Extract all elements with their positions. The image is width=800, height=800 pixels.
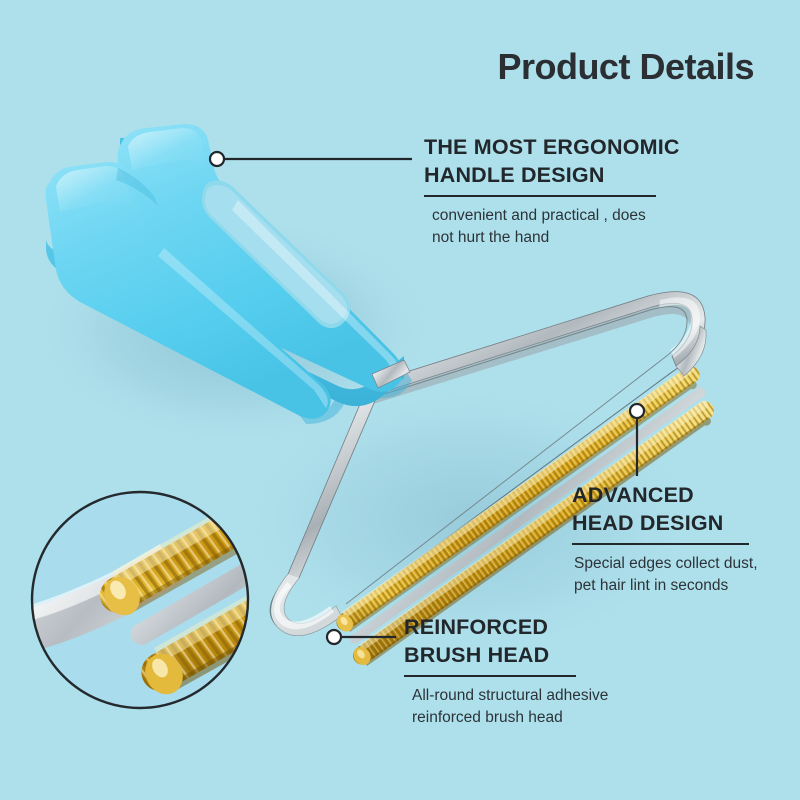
- callout-dot-ergonomic-handle: [210, 152, 224, 166]
- callout-subtext-line1: convenient and practical , does: [432, 205, 680, 227]
- callout-heading-line2: BRUSH HEAD: [404, 642, 608, 670]
- callout-heading: ADVANCED HEAD DESIGN: [572, 482, 758, 538]
- callout-subtext-line2: reinforced brush head: [412, 707, 608, 729]
- callout-underline: [424, 195, 656, 197]
- callout-subtext-line2: not hurt the hand: [432, 227, 680, 249]
- callout-heading: THE MOST ERGONOMIC HANDLE DESIGN: [424, 134, 680, 190]
- page-title: Product Details: [497, 46, 754, 88]
- callout-dot-advanced-head: [630, 404, 644, 418]
- callout-subtext: Special edges collect dust, pet hair lin…: [572, 553, 758, 596]
- callout-subtext-line2: pet hair lint in seconds: [574, 575, 758, 597]
- callout-dot-reinforced-brush: [327, 630, 341, 644]
- callout-heading: REINFORCED BRUSH HEAD: [404, 614, 608, 670]
- callout-heading-line2: HEAD DESIGN: [572, 510, 758, 538]
- callout-ergonomic-handle: THE MOST ERGONOMIC HANDLE DESIGN conveni…: [424, 134, 680, 248]
- product-illustration: [0, 0, 800, 800]
- callout-underline: [404, 675, 576, 677]
- callout-subtext-line1: All-round structural adhesive: [412, 685, 608, 707]
- callout-subtext-line1: Special edges collect dust,: [574, 553, 758, 575]
- callout-reinforced-brush: REINFORCED BRUSH HEAD All-round structur…: [404, 614, 608, 728]
- callout-advanced-head: ADVANCED HEAD DESIGN Special edges colle…: [572, 482, 758, 596]
- callout-heading-line1: THE MOST ERGONOMIC: [424, 134, 680, 162]
- callout-heading-line2: HANDLE DESIGN: [424, 162, 680, 190]
- callout-underline: [572, 543, 749, 545]
- callout-heading-line1: ADVANCED: [572, 482, 758, 510]
- callout-subtext: All-round structural adhesive reinforced…: [404, 685, 608, 728]
- product-detail-infographic: Product Details THE MOST ERGONOMIC HANDL…: [0, 0, 800, 800]
- callout-heading-line1: REINFORCED: [404, 614, 608, 642]
- callout-subtext: convenient and practical , does not hurt…: [424, 205, 680, 248]
